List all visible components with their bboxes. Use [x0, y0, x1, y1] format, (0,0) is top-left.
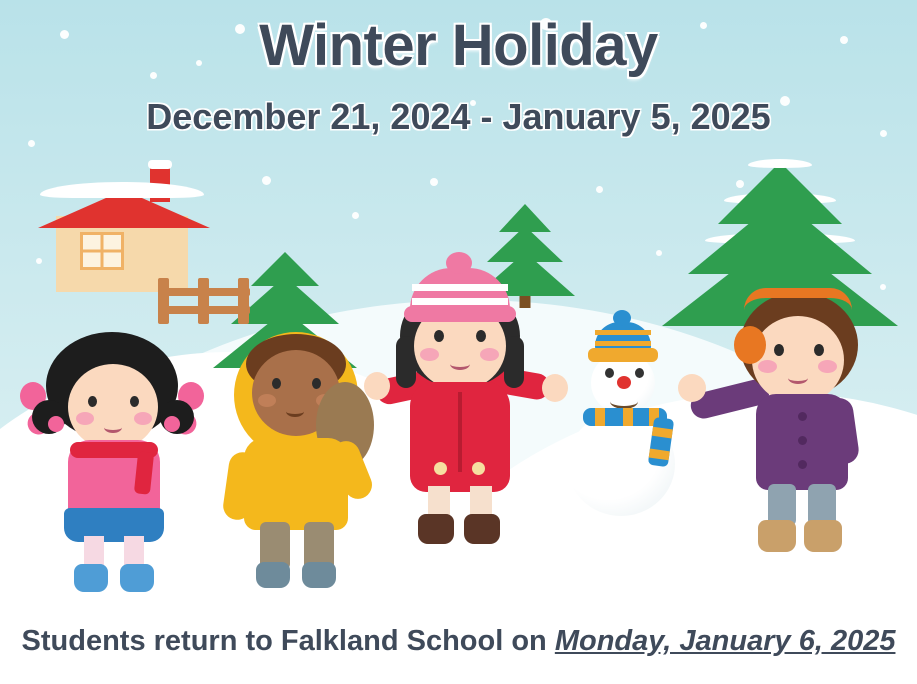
date-range: December 21, 2024 - January 5, 2025 — [0, 96, 917, 138]
eye-left — [434, 330, 444, 342]
snowman-mouth — [610, 394, 638, 409]
tree-snow — [748, 159, 812, 168]
tree-cone — [718, 162, 842, 224]
mouth — [450, 358, 470, 370]
roof-snow — [40, 182, 204, 198]
hat-brim — [404, 306, 516, 322]
scarf-stripe — [595, 408, 605, 426]
coat-button-right — [472, 462, 485, 475]
boot-left — [74, 564, 108, 592]
snowflake — [596, 186, 603, 193]
coat-zipper — [458, 392, 462, 472]
cheek-left — [258, 394, 276, 407]
child-girl-in-red-coat — [358, 262, 578, 554]
footer-emphasis-text: Monday, January 6, 2025 — [555, 625, 896, 657]
hair-tie-right — [164, 416, 180, 432]
eye-right — [130, 396, 139, 407]
eye-right — [814, 344, 824, 356]
snowflake — [352, 212, 359, 219]
fence-post — [158, 278, 169, 324]
cheek-left — [758, 360, 777, 373]
hand-left — [364, 372, 390, 400]
boot-right — [804, 520, 842, 552]
face — [68, 364, 158, 450]
cheek-left — [76, 412, 94, 425]
hair-strand-right — [504, 336, 524, 388]
page-title: Winter Holiday — [0, 12, 917, 79]
child-girl-in-pink-coat — [18, 330, 228, 598]
cheek-right — [134, 412, 152, 425]
scarf-stripe — [623, 408, 633, 426]
eye-left — [88, 396, 97, 407]
chimney-snow — [148, 160, 172, 169]
eye-left — [272, 378, 281, 389]
earmuff-left — [734, 326, 766, 364]
coat-button — [798, 460, 807, 469]
boot-left — [418, 514, 454, 544]
snowflake — [28, 140, 35, 147]
hair-tie-left — [48, 416, 64, 432]
hat-pompom — [446, 252, 472, 274]
fence-post — [198, 278, 209, 324]
boot-right — [120, 564, 154, 592]
tree-cone — [499, 204, 551, 232]
footer-lead-text: Students return to Falkland School on — [22, 625, 555, 657]
hand-right — [542, 374, 568, 402]
hat-stripe — [412, 284, 508, 291]
boot-left — [256, 562, 290, 588]
scarf-stripe — [652, 427, 673, 439]
mouth — [104, 422, 122, 433]
coat-button — [798, 412, 807, 421]
hand-left — [678, 374, 706, 402]
boot-right — [302, 562, 336, 588]
eye-left — [774, 344, 784, 356]
mouth — [788, 372, 808, 384]
snowman-hat-pompom — [613, 310, 631, 326]
snowman-eye — [605, 368, 614, 378]
hat-stripe — [595, 341, 651, 346]
scarf-stripe — [649, 449, 670, 461]
slide-canvas: Winter Holiday December 21, 2024 - Janua… — [0, 0, 917, 684]
child-girl-in-purple-coat — [688, 286, 888, 554]
skirt — [64, 508, 164, 542]
boot-left — [758, 520, 796, 552]
fence-rail — [158, 288, 250, 296]
footer-bar: Students return to Falkland School on Mo… — [0, 598, 917, 684]
cheek-right — [480, 348, 499, 361]
cheek-left — [420, 348, 439, 361]
boot-right — [464, 514, 500, 544]
tree-cone — [251, 252, 319, 286]
snowman-hat-brim — [588, 348, 658, 362]
coat-button-left — [434, 462, 447, 475]
snowman-eye — [635, 368, 644, 378]
snowflake — [430, 178, 438, 186]
earmuff-band — [744, 288, 852, 310]
hat-stripe — [595, 330, 651, 335]
mouth — [286, 406, 304, 417]
hat-stripe — [412, 298, 508, 305]
hair-strand-left — [396, 336, 416, 388]
house — [38, 160, 218, 290]
eye-right — [476, 330, 486, 342]
house-window — [80, 232, 124, 270]
coat-button — [798, 436, 807, 445]
winter-scene-illustration: Winter Holiday December 21, 2024 - Janua… — [0, 0, 917, 598]
snowflake — [262, 176, 271, 185]
return-date-note: Students return to Falkland School on Mo… — [22, 625, 896, 658]
eye-right — [312, 378, 321, 389]
cheek-right — [818, 360, 837, 373]
snowman-nose — [617, 376, 631, 389]
